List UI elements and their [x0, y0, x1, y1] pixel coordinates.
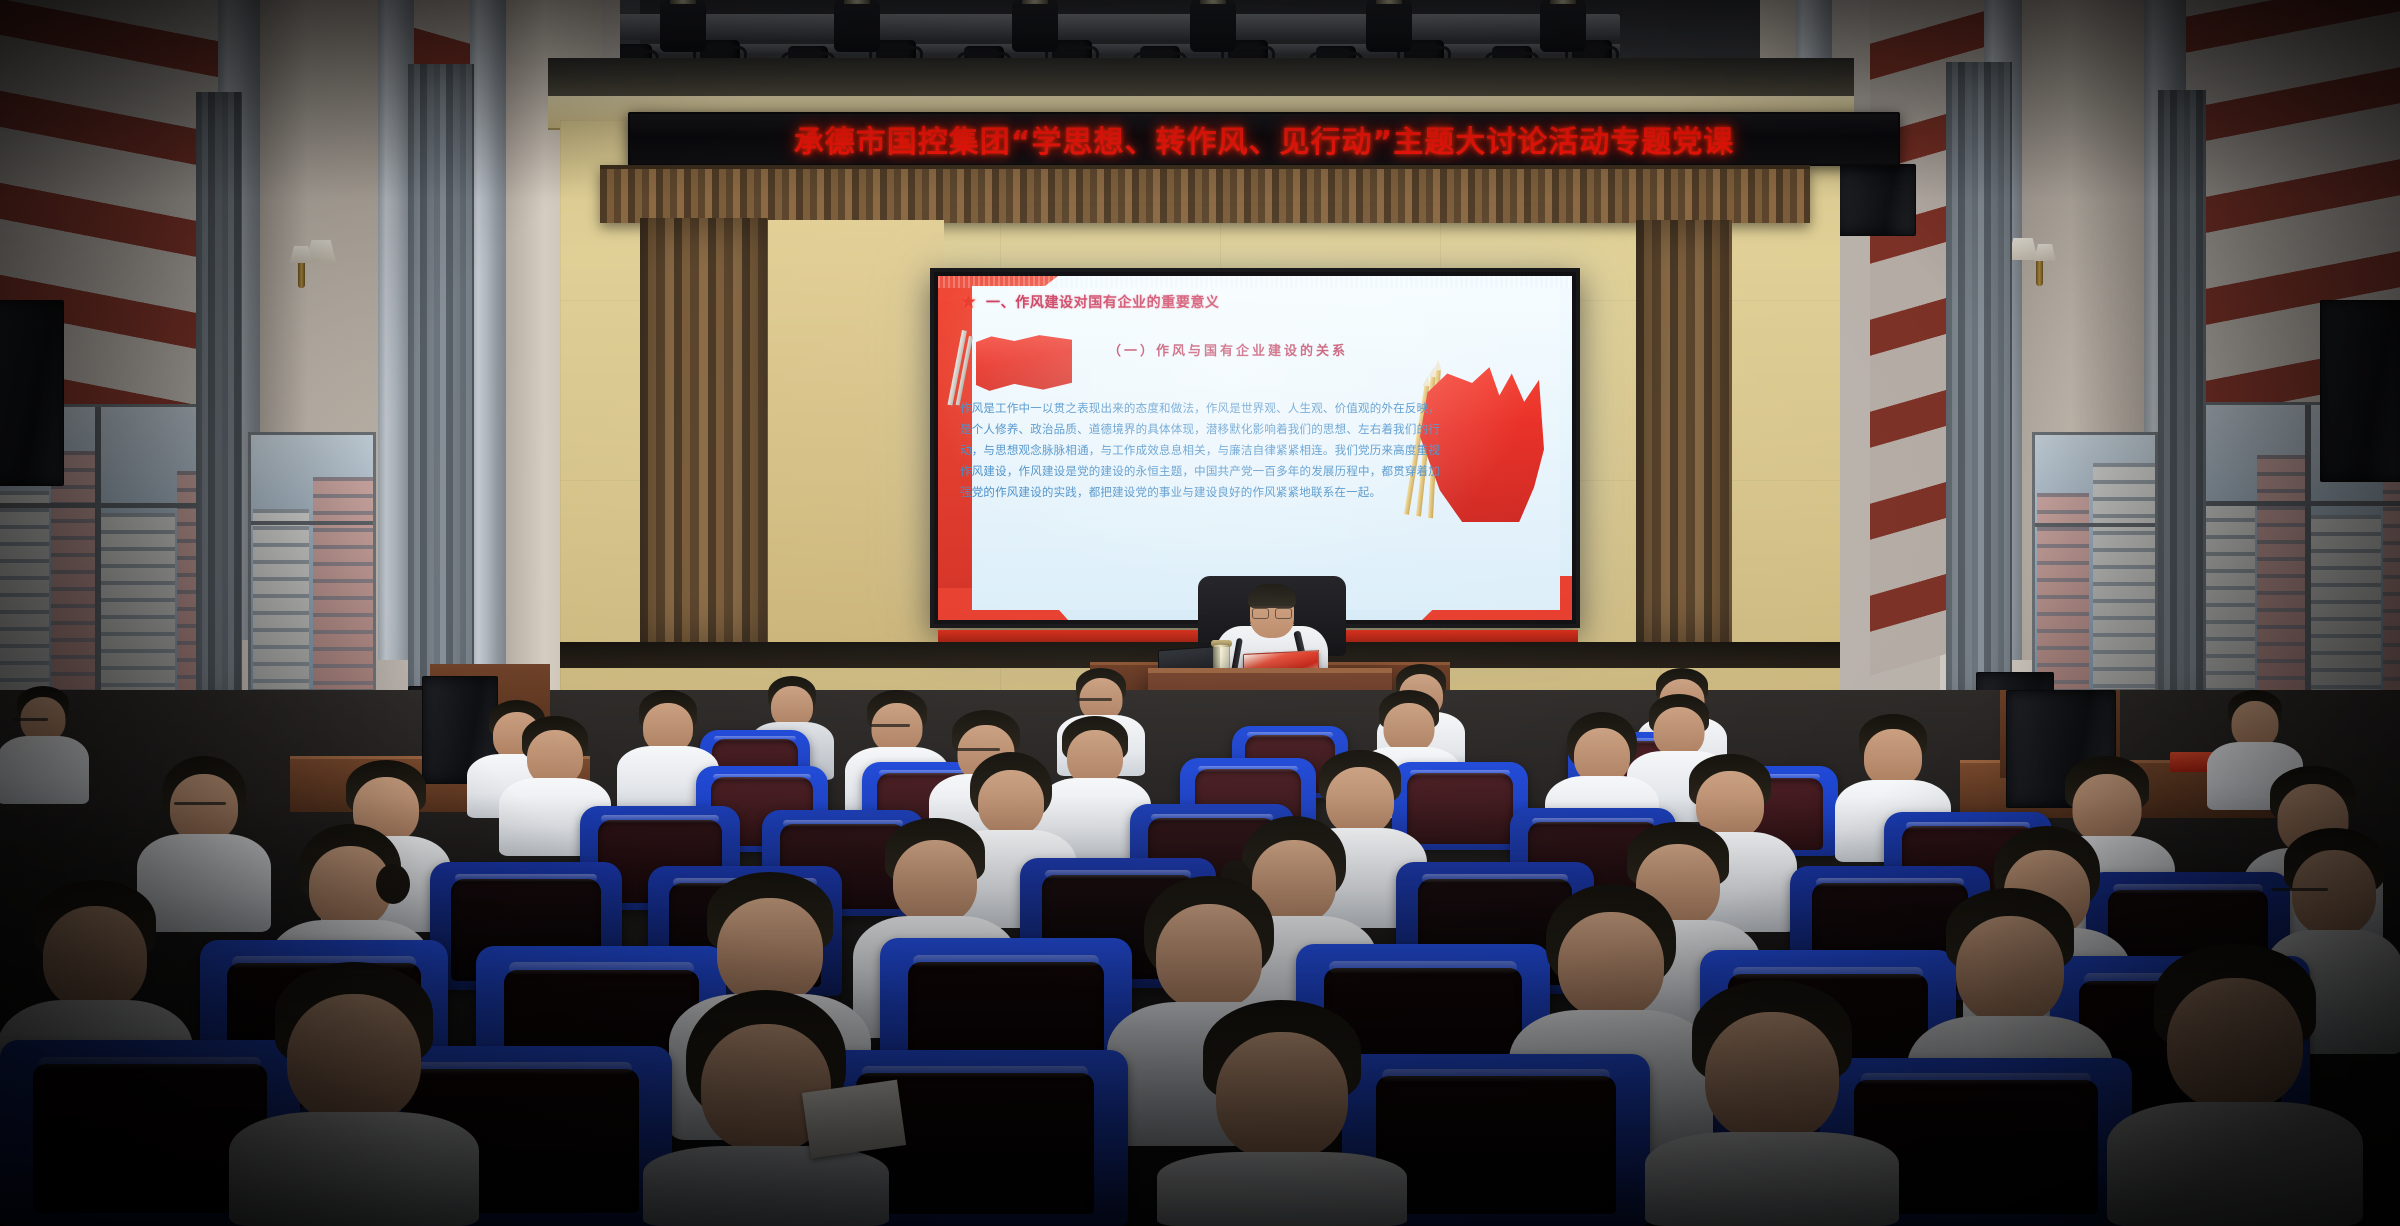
speaker-glasses-icon: [1252, 606, 1292, 615]
stage-uplight: [660, 0, 706, 52]
stage-soffit: [548, 58, 1854, 100]
wall-pilaster: [470, 0, 506, 700]
led-banner-text: 承德市国控集团“学思想、转作风、见行动”主题大讨论活动专题党课: [794, 117, 1734, 161]
window-right-inner: [2032, 432, 2158, 692]
audience-person: [2110, 944, 2360, 1226]
lighting-truss: [560, 14, 1620, 40]
wall-mounted-speaker: [1836, 164, 1916, 236]
slide-title-row: ★ 一、作风建设对国有企业的重要意义: [960, 292, 1220, 312]
stage-wall-panel: [768, 220, 944, 646]
window-left-inner: [248, 432, 376, 692]
window-curtain: [2158, 90, 2206, 706]
window-curtain: [408, 64, 474, 704]
window-curtain: [196, 92, 242, 704]
slide-body-text: 作风是工作中一以贯之表现出来的态度和做法，作风是世界观、人生观、价值观的外在反映…: [960, 398, 1440, 503]
conference-hall-photo: 承德市国控集团“学思想、转作风、见行动”主题大讨论活动专题党课 ★ 一、作风建设…: [0, 0, 2400, 1226]
stage-uplight: [1012, 0, 1058, 52]
wall-mounted-speaker: [0, 300, 64, 486]
audience-person: [1648, 980, 1896, 1226]
stage-uplight: [1366, 0, 1412, 52]
led-banner: 承德市国控集团“学思想、转作风、见行动”主题大讨论活动专题党课: [628, 112, 1900, 166]
notebook: [802, 1080, 906, 1159]
red-star-icon: ★: [960, 293, 977, 312]
audience-person: [1160, 1000, 1404, 1226]
stage-uplight: [1190, 0, 1236, 52]
window-curtain: [1946, 62, 2012, 706]
stage-valance: [600, 165, 1810, 223]
projection-screen[interactable]: ★ 一、作风建设对国有企业的重要意义 （一）作风与国有企业建设的关系 作风是工作…: [938, 276, 1572, 620]
audience-person: [0, 686, 86, 804]
projection-screen-frame: ★ 一、作风建设对国有企业的重要意义 （一）作风与国有企业建设的关系 作风是工作…: [930, 268, 1580, 628]
slide-subtitle: （一）作风与国有企业建设的关系: [1108, 340, 1348, 359]
wall-mounted-speaker: [2320, 300, 2400, 482]
audience-person: [232, 962, 476, 1226]
stage-curtain-left: [640, 218, 768, 648]
stage-uplight: [834, 0, 880, 52]
slide-title: 一、作风建设对国有企业的重要意义: [986, 292, 1220, 312]
waving-red-flag-icon: [960, 328, 1072, 406]
speaker-hair: [1248, 584, 1296, 608]
stage-curtain-right: [1636, 220, 1732, 644]
stage-uplight: [1540, 0, 1586, 52]
screen-scanline-artifact: [938, 276, 1572, 288]
